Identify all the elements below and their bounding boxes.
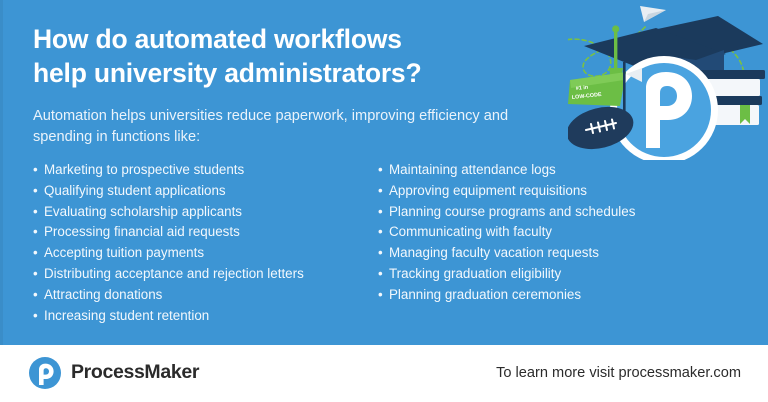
bullet-dot-icon: • (33, 163, 38, 176)
bullet-dot-icon: • (378, 246, 383, 259)
bullet-dot-icon: • (378, 267, 383, 280)
page-title: How do automated workflows help universi… (33, 22, 578, 91)
bullet-dot-icon: • (378, 288, 383, 301)
list-item-label: Planning course programs and schedules (389, 204, 635, 219)
list-item: •Increasing student retention (33, 309, 378, 322)
bullet-list-right: •Maintaining attendance logs•Approving e… (378, 163, 723, 309)
brand-name: ProcessMaker (71, 363, 199, 383)
graduation-cap-icon (584, 16, 763, 104)
list-item: •Attracting donations (33, 288, 378, 301)
bullet-dot-icon: • (33, 267, 38, 280)
list-item: •Marketing to prospective students (33, 163, 378, 176)
list-item: •Planning graduation ceremonies (378, 288, 723, 301)
list-item-label: Increasing student retention (44, 308, 209, 323)
list-item: •Qualifying student applications (33, 184, 378, 197)
list-item-label: Communicating with faculty (389, 224, 552, 239)
subtitle: Automation helps universities reduce pap… (33, 106, 543, 147)
bullet-list-left: •Marketing to prospective students•Quali… (33, 163, 378, 329)
bullet-columns: •Marketing to prospective students•Quali… (33, 163, 733, 329)
list-item: •Maintaining attendance logs (378, 163, 723, 176)
pennant-flag-icon: #1 in LOW-CODE (568, 62, 642, 118)
list-item: •Processing financial aid requests (33, 225, 378, 238)
list-item: •Evaluating scholarship applicants (33, 205, 378, 218)
paper-plane-icon (640, 6, 666, 22)
footer-bar: ProcessMaker To learn more visit process… (0, 345, 768, 402)
list-item-label: Tracking graduation eligibility (389, 266, 561, 281)
list-item-label: Attracting donations (44, 287, 162, 302)
list-item-label: Processing financial aid requests (44, 224, 240, 239)
hero-panel: #1 in LOW-CODE (0, 0, 768, 345)
list-item-label: Evaluating scholarship applicants (44, 204, 242, 219)
processmaker-logo-circle-icon (610, 56, 718, 160)
list-item-label: Marketing to prospective students (44, 162, 244, 177)
bullet-dot-icon: • (378, 225, 383, 238)
list-item: •Communicating with faculty (378, 225, 723, 238)
visit-link-text[interactable]: To learn more visit processmaker.com (496, 366, 741, 381)
bullet-dot-icon: • (33, 225, 38, 238)
list-item-label: Qualifying student applications (44, 183, 226, 198)
list-item: •Approving equipment requisitions (378, 184, 723, 197)
dashed-path-decoration (568, 26, 744, 110)
list-item: •Distributing acceptance and rejection l… (33, 267, 378, 280)
graduation-education-illustration: #1 in LOW-CODE (568, 0, 768, 160)
processmaker-logo-icon (28, 356, 62, 390)
panel-left-edge (0, 0, 3, 345)
bullet-dot-icon: • (378, 163, 383, 176)
headline-line-2: help university administrators? (33, 56, 578, 90)
bullet-dot-icon: • (378, 184, 383, 197)
headline-line-1: How do automated workflows (33, 24, 402, 54)
book-stack-icon (681, 70, 765, 125)
infographic-card: #1 in LOW-CODE (0, 0, 768, 402)
bullet-dot-icon: • (33, 309, 38, 322)
bullet-column-left: •Marketing to prospective students•Quali… (33, 163, 378, 329)
list-item-label: Distributing acceptance and rejection le… (44, 266, 304, 281)
bullet-dot-icon: • (33, 205, 38, 218)
list-item-label: Planning graduation ceremonies (389, 287, 581, 302)
svg-text:LOW-CODE: LOW-CODE (572, 92, 603, 101)
list-item-label: Approving equipment requisitions (389, 183, 587, 198)
football-icon (568, 100, 638, 155)
list-item: •Managing faculty vacation requests (378, 246, 723, 259)
bullet-column-right: •Maintaining attendance logs•Approving e… (378, 163, 723, 329)
subtitle-line-1: Automation helps universities reduce pap… (33, 108, 415, 124)
list-item-label: Maintaining attendance logs (389, 162, 556, 177)
list-item-label: Accepting tuition payments (44, 245, 204, 260)
bullet-dot-icon: • (378, 205, 383, 218)
list-item: •Planning course programs and schedules (378, 205, 723, 218)
bullet-dot-icon: • (33, 246, 38, 259)
bullet-dot-icon: • (33, 288, 38, 301)
list-item: •Accepting tuition payments (33, 246, 378, 259)
brand-logo[interactable]: ProcessMaker (28, 356, 199, 390)
list-item-label: Managing faculty vacation requests (389, 245, 599, 260)
bullet-dot-icon: • (33, 184, 38, 197)
list-item: •Tracking graduation eligibility (378, 267, 723, 280)
